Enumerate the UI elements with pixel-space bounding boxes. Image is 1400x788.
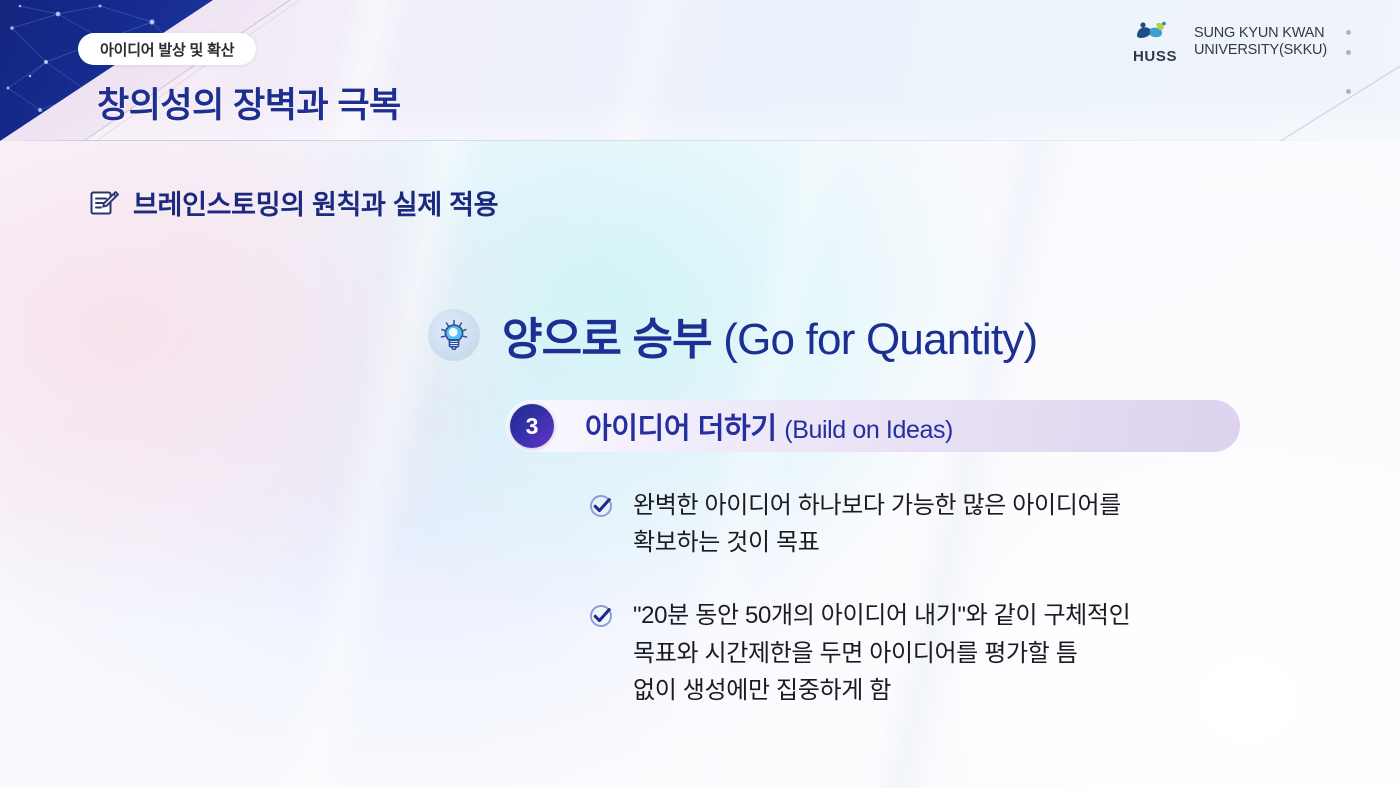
kicker-label: 아이디어 발상 및 확산	[100, 39, 234, 60]
slide-header: 아이디어 발상 및 확산 창의성의 장벽과 극복 HUSS SUNG KYUN …	[0, 0, 1400, 141]
dot-3	[1346, 89, 1351, 94]
skku-huss-logo: HUSS SUNG KYUN KWAN UNIVERSITY(SKKU)	[1133, 20, 1327, 64]
section-pill-label: 아이디어 더하기 (Build on Ideas)	[585, 405, 953, 447]
check-circle-icon	[588, 493, 614, 519]
memo-pencil-icon	[88, 187, 120, 219]
lightbulb-icon	[437, 318, 471, 352]
list-item: 완벽한 아이디어 하나보다 가능한 많은 아이디어를 확보하는 것이 목표	[588, 487, 1328, 561]
huss-emblem-icon	[1133, 20, 1173, 42]
logo-line-1: SUNG KYUN KWAN	[1194, 25, 1327, 42]
check-circle-icon	[588, 603, 614, 629]
section-pill-korean: 아이디어 더하기	[585, 413, 784, 445]
dot-2	[1346, 50, 1351, 55]
lightbulb-badge	[428, 309, 480, 361]
header-divider	[0, 140, 1400, 141]
slide: 아이디어 발상 및 확산 창의성의 장벽과 극복 HUSS SUNG KYUN …	[0, 0, 1400, 788]
section-pill: 3 아이디어 더하기 (Build on Ideas)	[506, 400, 1240, 452]
list-item-text: 완벽한 아이디어 하나보다 가능한 많은 아이디어를 확보하는 것이 목표	[633, 487, 1121, 561]
main-heading-english: (Go for Quantity)	[723, 315, 1037, 364]
logo-university-name: SUNG KYUN KWAN UNIVERSITY(SKKU)	[1194, 25, 1327, 59]
huss-wordmark: HUSS	[1133, 49, 1185, 64]
header-decorative-dots	[1346, 30, 1351, 109]
main-heading-text: 양으로 승부 (Go for Quantity)	[502, 303, 1037, 367]
bullet-list: 완벽한 아이디어 하나보다 가능한 많은 아이디어를 확보하는 것이 목표 "2…	[588, 487, 1328, 745]
breadcrumb-kicker-badge: 아이디어 발상 및 확산	[78, 33, 256, 65]
section-pill-english: (Build on Ideas)	[784, 416, 953, 444]
logo-line-2: UNIVERSITY(SKKU)	[1194, 42, 1327, 59]
list-item: "20분 동안 50개의 아이디어 내기"와 같이 구체적인 목표와 시간제한을…	[588, 597, 1328, 709]
section-number-badge: 3	[510, 404, 554, 448]
subheading-label: 브레인스토밍의 원칙과 실제 적용	[133, 183, 498, 222]
page-title: 창의성의 장벽과 극복	[97, 77, 401, 128]
dot-1	[1346, 30, 1351, 35]
subheading-row: 브레인스토밍의 원칙과 실제 적용	[88, 183, 498, 222]
main-heading-row: 양으로 승부 (Go for Quantity)	[428, 303, 1037, 367]
list-item-text: "20분 동안 50개의 아이디어 내기"와 같이 구체적인 목표와 시간제한을…	[633, 597, 1130, 709]
logo-mark: HUSS	[1133, 20, 1185, 64]
main-heading-korean: 양으로 승부	[502, 315, 723, 364]
